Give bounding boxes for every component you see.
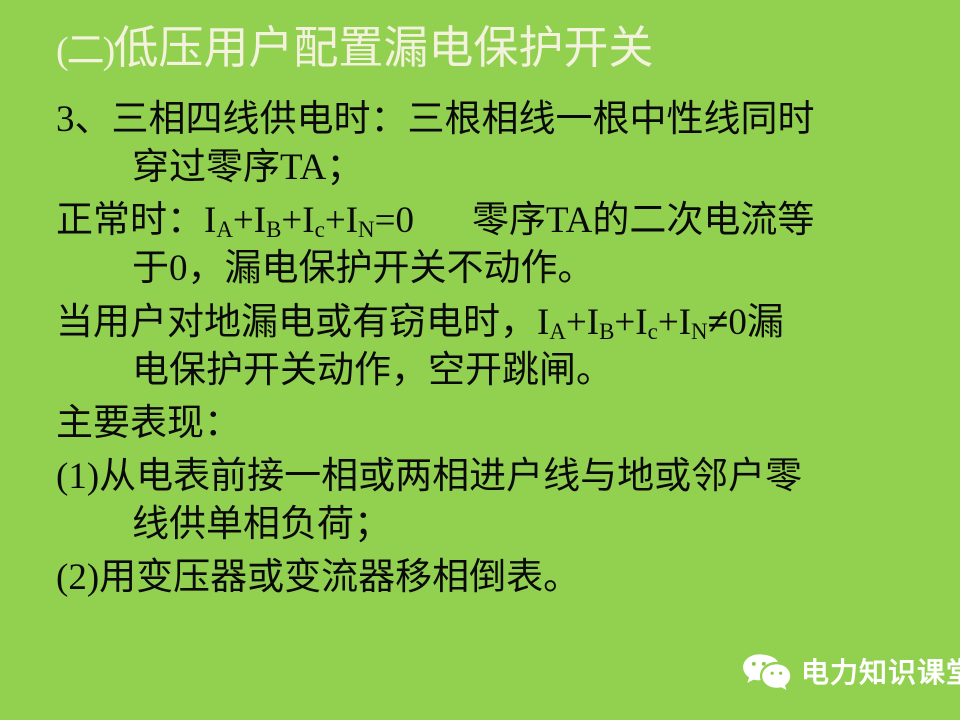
- title-marker: (二): [56, 30, 113, 72]
- page-title: (二)低压用户配置漏电保护开关: [56, 22, 916, 77]
- paragraph-1-line-1: 3、三相四线供电时：三根相线一根中性线同时: [56, 99, 815, 140]
- formula-i4: I: [346, 200, 358, 241]
- formula2-sub-c: c: [648, 319, 658, 344]
- formula2-sub-n: N: [691, 319, 708, 344]
- paragraph-2-line-2: 于0，漏电保护开关不动作。: [94, 245, 956, 293]
- slide-body: 3、三相四线供电时：三根相线一根中性线同时 穿过零序TA； 正常时：IA+IB+…: [56, 96, 956, 607]
- body-paragraph-5: (1)从电表前接一相或两相进户线与地或邻户零 线供单相负荷；: [56, 453, 956, 549]
- formula-sub-b: B: [266, 217, 281, 242]
- paragraph-5-line-1: (1)从电表前接一相或两相进户线与地或邻户零: [56, 456, 802, 497]
- formula2-sub-b: B: [599, 319, 614, 344]
- formula-op1: +: [233, 200, 254, 241]
- watermark-text: 电力知识课堂: [801, 657, 960, 689]
- paragraph-4-line-1: 主要表现：: [56, 403, 241, 444]
- wechat-icon: [742, 652, 792, 694]
- body-paragraph-2: 正常时：IA+IB+Ic+IN=0零序TA的二次电流等 于0，漏电保护开关不动作…: [56, 197, 956, 293]
- formula-op2: +: [281, 200, 302, 241]
- title-text: 低压用户配置漏电保护开关: [113, 23, 653, 73]
- formula2-i3: I: [635, 302, 647, 343]
- formula-i3: I: [302, 200, 314, 241]
- watermark: 电力知识课堂: [742, 652, 960, 694]
- paragraph-5-line-2: 线供单相负荷；: [94, 501, 956, 549]
- formula2-op2: +: [614, 302, 635, 343]
- formula2-op1: +: [566, 302, 587, 343]
- body-paragraph-6: (2)用变压器或变流器移相倒表。: [56, 554, 956, 602]
- formula-relation: =: [375, 200, 396, 241]
- formula-i2: I: [254, 200, 266, 241]
- formula-op3: +: [325, 200, 346, 241]
- formula2-sub-a: A: [549, 319, 566, 344]
- formula-sub-c: c: [315, 217, 325, 242]
- formula2-rhs: 0: [728, 302, 747, 343]
- body-paragraph-4: 主要表现：: [56, 400, 956, 448]
- not-equal-symbol: ≠: [708, 301, 729, 343]
- formula-sub-a: A: [216, 217, 233, 242]
- body-paragraph-1: 3、三相四线供电时：三根相线一根中性线同时 穿过零序TA；: [56, 96, 956, 192]
- formula2-op3: +: [658, 302, 679, 343]
- paragraph-2-after: 零序TA的二次电流等: [472, 200, 814, 241]
- slide-canvas: (二)低压用户配置漏电保护开关 3、三相四线供电时：三根相线一根中性线同时 穿过…: [0, 0, 960, 720]
- formula-sub-n: N: [358, 217, 375, 242]
- formula2-i1: I: [537, 302, 549, 343]
- formula-balanced: IA+IB+Ic+IN=0: [204, 200, 414, 241]
- formula2-i2: I: [587, 302, 599, 343]
- paragraph-6-line-1: (2)用变压器或变流器移相倒表。: [56, 557, 580, 598]
- formula2-i4: I: [679, 302, 691, 343]
- paragraph-3-line-2: 电保护开关动作，空开跳闸。: [94, 347, 956, 395]
- body-paragraph-3: 当用户对地漏电或有窃电时，IA+IB+Ic+IN≠0漏 电保护开关动作，空开跳闸…: [56, 298, 956, 395]
- formula-rhs: 0: [395, 200, 414, 241]
- formula-unbalanced: IA+IB+Ic+IN≠0: [537, 302, 747, 343]
- paragraph-3-prefix: 当用户对地漏电或有窃电时，: [56, 302, 537, 343]
- formula-i1: I: [204, 200, 216, 241]
- paragraph-3-after: 漏: [747, 302, 784, 343]
- paragraph-2-prefix: 正常时：: [56, 200, 204, 241]
- paragraph-1-line-2: 穿过零序TA；: [94, 144, 956, 192]
